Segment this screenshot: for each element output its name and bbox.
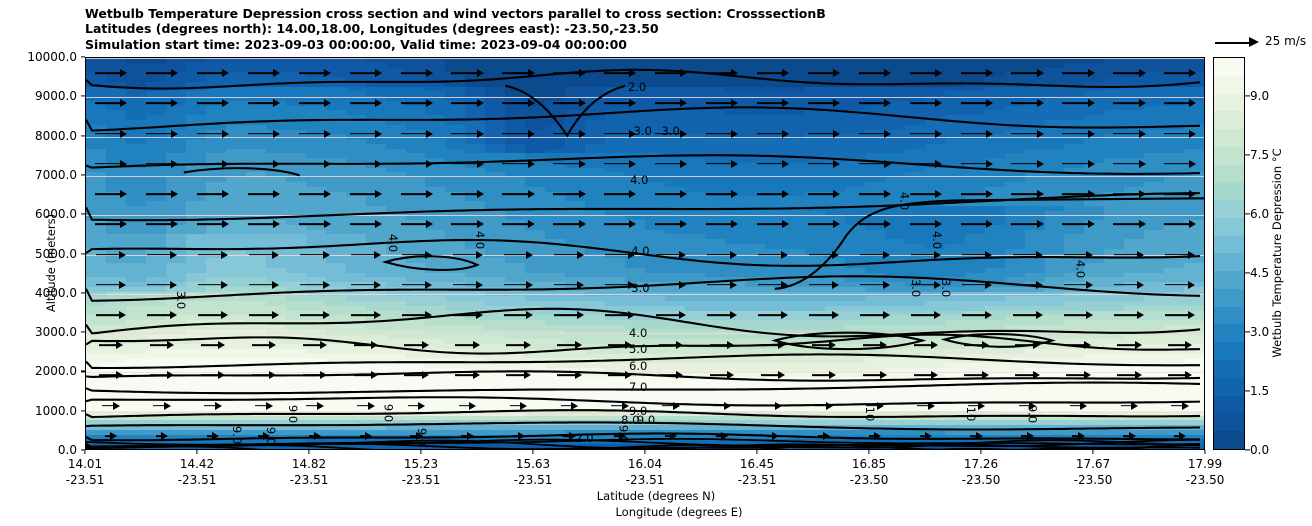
wind-vector-arrow: [1164, 129, 1197, 139]
wind-vector-shaft: [859, 72, 884, 74]
wind-vector-shaft: [553, 133, 578, 135]
wind-vector-shaft: [961, 103, 986, 105]
wind-vector-head-icon: [120, 160, 127, 168]
wind-vector-arrow: [910, 68, 943, 78]
wind-vector-arrow: [401, 159, 434, 169]
wind-vector-arrow: [910, 129, 943, 139]
wind-vector-shaft: [248, 72, 273, 74]
wind-vector-head-icon: [1037, 130, 1044, 138]
wind-vector-arrow: [146, 159, 179, 169]
wind-vector-arrow: [553, 98, 586, 108]
wind-vector-shaft: [706, 72, 731, 74]
wind-vector-shaft: [808, 103, 833, 105]
wind-vector-head-icon: [1088, 69, 1095, 77]
wind-vector-arrow: [451, 98, 484, 108]
wind-vector-arrow: [910, 98, 943, 108]
wind-vector-shaft: [146, 163, 171, 165]
wind-vector-arrow: [553, 129, 586, 139]
wind-vector-shaft: [604, 133, 629, 135]
wind-vector-shaft: [197, 103, 222, 105]
y-tick-label: 10000.0: [27, 50, 77, 64]
wind-vector-head-icon: [833, 130, 840, 138]
wind-vector-head-icon: [833, 99, 840, 107]
wind-vector-head-icon: [375, 130, 382, 138]
wind-vector-head-icon: [324, 160, 331, 168]
contour-line: [775, 198, 1204, 289]
wind-vector-arrow: [299, 159, 332, 169]
wind-vector-shaft: [197, 133, 222, 135]
wind-vector-head-icon: [731, 160, 738, 168]
wind-vector-arrow: [604, 98, 637, 108]
wind-vector-head-icon: [222, 69, 229, 77]
wind-vector-head-icon: [171, 160, 178, 168]
wind-vector-arrow: [706, 68, 739, 78]
wind-vector-head-icon: [477, 69, 484, 77]
wind-vector-shaft: [401, 103, 426, 105]
wind-vector-shaft: [859, 103, 884, 105]
wind-vector-shaft: [95, 72, 120, 74]
wind-vector-head-icon: [579, 69, 586, 77]
wind-vector-head-icon: [935, 130, 942, 138]
y-tick-label: 2000.0: [35, 364, 77, 378]
wind-vector-arrow: [757, 159, 790, 169]
wind-vector-arrow: [808, 68, 841, 78]
wind-vector-arrow: [655, 68, 688, 78]
wind-vector-head-icon: [884, 130, 891, 138]
wind-vector-arrow: [553, 68, 586, 78]
y-tick-label: 5000.0: [35, 247, 77, 261]
wind-vector-arrow: [1113, 129, 1146, 139]
wind-vector-head-icon: [375, 99, 382, 107]
wind-vector-arrow: [604, 68, 637, 78]
wind-vector-head-icon: [528, 160, 535, 168]
wind-vector-head-icon: [120, 130, 127, 138]
wind-vector-shaft: [197, 72, 222, 74]
wind-vector-arrow: [706, 159, 739, 169]
wind-vector-shaft: [604, 72, 629, 74]
wind-vector-head-icon: [782, 99, 789, 107]
wind-vector-shaft: [248, 163, 273, 165]
wind-vector-shaft: [502, 72, 527, 74]
wind-vector-shaft: [604, 163, 629, 165]
wind-vector-shaft: [655, 103, 680, 105]
wind-vector-head-icon: [222, 160, 229, 168]
wind-vector-head-icon: [1139, 69, 1146, 77]
wind-vector-shaft: [197, 163, 222, 165]
wind-vector-shaft: [1011, 103, 1036, 105]
wind-vector-shaft: [401, 133, 426, 135]
wind-vector-arrow: [451, 159, 484, 169]
wind-vector-arrow: [553, 159, 586, 169]
wind-vector-arrow: [859, 129, 892, 139]
wind-vector-arrow: [502, 68, 535, 78]
y-tick-label: 7000.0: [35, 168, 77, 182]
wind-vector-arrow: [1113, 98, 1146, 108]
quiver-key-arrow-icon: [1215, 42, 1251, 44]
wind-vector-shaft: [95, 133, 120, 135]
wind-vector-shaft: [1011, 133, 1036, 135]
wind-vector-head-icon: [171, 99, 178, 107]
wind-vector-arrow: [95, 129, 128, 139]
wind-vector-shaft: [350, 163, 375, 165]
wind-vector-arrow: [706, 129, 739, 139]
wind-vector-shaft: [451, 72, 476, 74]
wind-vector-shaft: [299, 103, 324, 105]
wind-vector-arrow: [95, 98, 128, 108]
wind-vector-head-icon: [1088, 99, 1095, 107]
wind-vector-head-icon: [935, 99, 942, 107]
wind-vector-arrow: [961, 68, 994, 78]
wind-vector-shaft: [451, 163, 476, 165]
wind-vector-shaft: [350, 133, 375, 135]
wind-vector-shaft: [299, 133, 324, 135]
chart-title-block: Wetbulb Temperature Depression cross sec…: [85, 6, 1205, 52]
wind-vector-head-icon: [426, 130, 433, 138]
wind-vector-shaft: [655, 72, 680, 74]
wind-vector-head-icon: [731, 99, 738, 107]
wind-vector-shaft: [706, 163, 731, 165]
wind-vector-head-icon: [680, 99, 687, 107]
wind-vector-shaft: [146, 133, 171, 135]
wind-vector-arrow: [502, 129, 535, 139]
wind-vector-head-icon: [477, 160, 484, 168]
wind-vector-shaft: [146, 103, 171, 105]
wind-vector-head-icon: [680, 160, 687, 168]
wind-vector-shaft: [961, 133, 986, 135]
wind-vector-arrow: [350, 129, 383, 139]
wind-vector-shaft: [1113, 72, 1138, 74]
wind-vector-arrow: [350, 68, 383, 78]
wind-vector-arrow: [502, 159, 535, 169]
wind-vector-arrow: [146, 98, 179, 108]
wind-vector-shaft: [299, 163, 324, 165]
y-tick-label: 6000.0: [35, 207, 77, 221]
wind-vector-shaft: [502, 163, 527, 165]
wind-vector-shaft: [604, 103, 629, 105]
wind-vector-shaft: [1011, 72, 1036, 74]
wind-vector-arrow: [808, 129, 841, 139]
wind-vector-shaft: [299, 72, 324, 74]
wind-vector-head-icon: [629, 160, 636, 168]
wind-vector-shaft: [808, 133, 833, 135]
wind-vector-head-icon: [680, 130, 687, 138]
wind-vector-shaft: [1113, 103, 1138, 105]
wind-vector-shaft: [401, 72, 426, 74]
wind-vector-head-icon: [884, 69, 891, 77]
y-tick-label: 0.0: [58, 443, 77, 457]
wind-vector-head-icon: [986, 69, 993, 77]
cross-section-plot[interactable]: 2.03.03.04.04.04.04.03.03.04.04.04.03.03…: [85, 57, 1205, 450]
wind-vector-arrow: [95, 159, 128, 169]
wind-vector-shaft: [553, 103, 578, 105]
wind-vector-head-icon: [884, 99, 891, 107]
wind-vector-arrow: [808, 159, 841, 169]
wind-vector-arrow: [401, 129, 434, 139]
wind-vector-arrow: [655, 98, 688, 108]
wind-vector-shaft: [808, 72, 833, 74]
wind-vector-head-icon: [782, 160, 789, 168]
wind-vector-head-icon: [273, 160, 280, 168]
wind-vector-arrow: [859, 98, 892, 108]
wind-vector-head-icon: [1189, 99, 1196, 107]
wind-vector-head-icon: [986, 99, 993, 107]
wind-vector-arrow: [502, 98, 535, 108]
wind-vector-arrow: [961, 129, 994, 139]
wind-vector-head-icon: [731, 130, 738, 138]
wind-vector-head-icon: [222, 99, 229, 107]
wind-vector-shaft: [401, 163, 426, 165]
wind-vector-shaft: [248, 103, 273, 105]
wind-vector-arrow: [248, 68, 281, 78]
wind-vector-head-icon: [579, 160, 586, 168]
wind-vector-head-icon: [171, 69, 178, 77]
wind-vector-shaft: [859, 133, 884, 135]
wind-vector-arrow: [299, 68, 332, 78]
wind-vector-shaft: [757, 103, 782, 105]
wind-vector-arrow: [1062, 129, 1095, 139]
wind-vector-arrow: [1062, 68, 1095, 78]
wind-vector-head-icon: [528, 69, 535, 77]
wind-vector-head-icon: [731, 69, 738, 77]
quiver-key-arrowhead-icon: [1249, 37, 1259, 47]
title-line-1: Wetbulb Temperature Depression cross sec…: [85, 6, 1205, 21]
wind-vector-arrow: [757, 129, 790, 139]
wind-vector-arrow: [146, 129, 179, 139]
quiver-key-label: 25 m/s: [1265, 34, 1306, 48]
wind-vector-head-icon: [1189, 130, 1196, 138]
wind-vector-head-icon: [324, 130, 331, 138]
wind-vector-shaft: [655, 163, 680, 165]
wind-vector-shaft: [502, 133, 527, 135]
wind-vector-arrow: [859, 68, 892, 78]
wind-vector-shaft: [1062, 133, 1087, 135]
wind-vector-arrow: [451, 68, 484, 78]
wind-vector-shaft: [95, 163, 120, 165]
wind-vector-shaft: [910, 72, 935, 74]
wind-vector-shaft: [248, 133, 273, 135]
wind-vector-head-icon: [426, 160, 433, 168]
wind-vector-arrow: [401, 98, 434, 108]
wind-vector-head-icon: [273, 130, 280, 138]
plot-inner: 2.03.03.04.04.04.04.03.03.04.04.04.03.03…: [86, 58, 1204, 449]
wind-vector-head-icon: [324, 99, 331, 107]
wind-vector-arrow: [1011, 98, 1044, 108]
wind-vector-shaft: [757, 72, 782, 74]
wind-vector-head-icon: [375, 160, 382, 168]
wind-vector-shaft: [350, 103, 375, 105]
wind-vector-head-icon: [782, 69, 789, 77]
wind-vector-arrow: [197, 98, 230, 108]
wind-vector-shaft: [1164, 72, 1189, 74]
wind-vector-head-icon: [426, 99, 433, 107]
wind-vector-shaft: [451, 103, 476, 105]
wind-vector-arrow: [655, 159, 688, 169]
wind-vector-head-icon: [528, 99, 535, 107]
wind-vector-arrow: [350, 159, 383, 169]
wind-vector-arrow: [299, 129, 332, 139]
wind-vector-shaft: [757, 133, 782, 135]
wind-vector-shaft: [1164, 103, 1189, 105]
contour-line: [184, 168, 300, 175]
wind-vector-head-icon: [120, 69, 127, 77]
wind-vector-arrow: [1113, 68, 1146, 78]
wind-vector-arrow: [604, 129, 637, 139]
wind-vector-arrow: [197, 68, 230, 78]
wind-vector-shaft: [706, 133, 731, 135]
wind-vector-arrow: [299, 98, 332, 108]
wind-vector-arrow: [1011, 129, 1044, 139]
wind-vector-arrow: [401, 68, 434, 78]
contour-line: [775, 333, 923, 349]
wind-vector-arrow: [1011, 68, 1044, 78]
wind-vector-arrow: [146, 68, 179, 78]
wind-vector-arrow: [757, 98, 790, 108]
wind-vector-arrow: [197, 159, 230, 169]
y-tick-label: 9000.0: [35, 89, 77, 103]
wind-vector-shaft: [757, 163, 782, 165]
wind-vector-head-icon: [477, 99, 484, 107]
y-tick-label: 4000.0: [35, 286, 77, 300]
y-tick-label: 1000.0: [35, 404, 77, 418]
wind-vector-head-icon: [528, 130, 535, 138]
wind-vector-shaft: [961, 72, 986, 74]
wind-vector-arrow: [248, 98, 281, 108]
wind-vector-head-icon: [579, 99, 586, 107]
wind-vector-arrow: [248, 159, 281, 169]
wind-vector-head-icon: [1037, 99, 1044, 107]
quiver-key: 25 m/s: [1213, 33, 1312, 53]
wind-vector-shaft: [95, 103, 120, 105]
wind-vector-arrow: [706, 98, 739, 108]
wind-vector-shaft: [502, 103, 527, 105]
wind-vector-shaft: [553, 72, 578, 74]
wind-vector-shaft: [910, 133, 935, 135]
wind-vector-head-icon: [680, 69, 687, 77]
wind-vector-head-icon: [1139, 130, 1146, 138]
wind-vector-head-icon: [171, 130, 178, 138]
wind-vector-shaft: [1062, 103, 1087, 105]
y-tick-label: 3000.0: [35, 325, 77, 339]
wind-vector-head-icon: [833, 69, 840, 77]
wind-vector-head-icon: [324, 69, 331, 77]
wind-vector-shaft: [1164, 133, 1189, 135]
wind-vector-arrow: [961, 98, 994, 108]
wind-vector-head-icon: [273, 69, 280, 77]
y-tick-label: 8000.0: [35, 129, 77, 143]
wind-vector-arrow: [757, 68, 790, 78]
wind-vector-arrow: [451, 129, 484, 139]
wind-vector-shaft: [350, 72, 375, 74]
wind-vector-head-icon: [477, 130, 484, 138]
title-line-2: Latitudes (degrees north): 14.00,18.00, …: [85, 21, 1205, 36]
wind-vector-head-icon: [1037, 69, 1044, 77]
wind-vector-arrow: [604, 159, 637, 169]
wind-vector-head-icon: [629, 99, 636, 107]
wind-vector-head-icon: [273, 99, 280, 107]
wind-vector-shaft: [910, 103, 935, 105]
wind-vector-arrow: [1062, 98, 1095, 108]
wind-vector-head-icon: [222, 130, 229, 138]
wind-vector-head-icon: [1189, 69, 1196, 77]
wind-vector-shaft: [146, 72, 171, 74]
wind-vector-arrow: [350, 98, 383, 108]
wind-vector-shaft: [553, 163, 578, 165]
wind-vector-shaft: [706, 103, 731, 105]
wind-vector-head-icon: [426, 69, 433, 77]
wind-vector-head-icon: [120, 99, 127, 107]
wind-vector-head-icon: [782, 130, 789, 138]
wind-vector-arrow: [248, 129, 281, 139]
wind-vector-arrow: [95, 68, 128, 78]
wind-vector-arrow: [197, 129, 230, 139]
wind-vector-head-icon: [1139, 99, 1146, 107]
wind-vector-shaft: [1113, 133, 1138, 135]
title-line-3: Simulation start time: 2023-09-03 00:00:…: [85, 37, 1205, 52]
wind-vector-head-icon: [629, 69, 636, 77]
wind-vector-shaft: [451, 133, 476, 135]
wind-vector-shaft: [1062, 72, 1087, 74]
wind-vector-arrow: [808, 98, 841, 108]
wind-vector-arrow: [1164, 98, 1197, 108]
wind-vector-head-icon: [375, 69, 382, 77]
wind-vector-head-icon: [935, 69, 942, 77]
wind-vector-arrow: [1164, 68, 1197, 78]
wind-vector-head-icon: [1088, 130, 1095, 138]
wind-vector-head-icon: [579, 130, 586, 138]
wind-vector-head-icon: [986, 130, 993, 138]
